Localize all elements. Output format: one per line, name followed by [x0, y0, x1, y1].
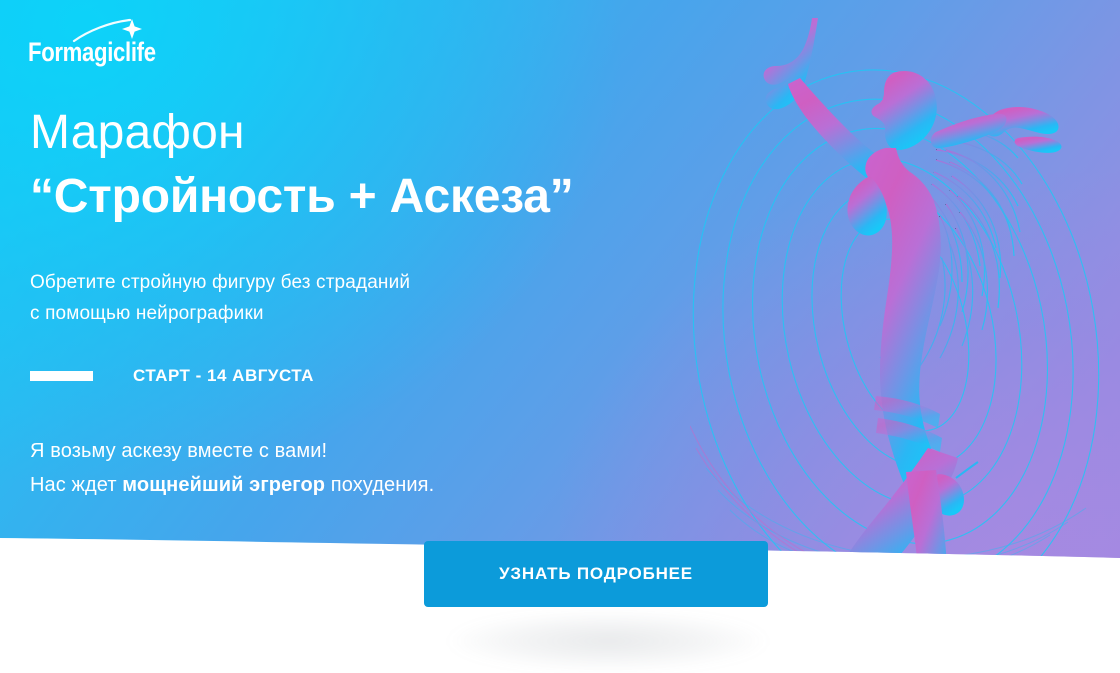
- promise-suffix: похудения.: [325, 474, 434, 496]
- start-date-label: СТАРТ - 14 АВГУСТА: [133, 366, 314, 386]
- subtitle-line-2: с помощью нейрографики: [30, 299, 410, 330]
- brand-logo-text: Formagiclife: [28, 39, 156, 66]
- subtitle-line-1: Обретите стройную фигуру без страданий: [30, 268, 410, 299]
- headline-line-2: “Стройность + Аскеза”: [30, 172, 750, 223]
- hero-headline: Марафон “Стройность + Аскеза”: [30, 108, 750, 223]
- start-date-row: СТАРТ - 14 АВГУСТА: [30, 366, 314, 386]
- learn-more-button[interactable]: УЗНАТЬ ПОДРОБНЕЕ: [424, 541, 768, 607]
- hero-subtitle: Обретите стройную фигуру без страданий с…: [30, 268, 410, 330]
- accent-bar: [30, 371, 93, 381]
- cta-shadow: [448, 612, 768, 670]
- headline-line-1: Марафон: [30, 108, 750, 159]
- promise-line-2: Нас ждет мощнейший эгрегор похудения.: [30, 468, 434, 502]
- promise-highlight: мощнейший эгрегор: [122, 474, 325, 496]
- promise-line-1: Я возьму аскезу вместе с вами!: [30, 434, 434, 468]
- landing-page: Formagiclife Марафон “Стройность + Аскез…: [0, 0, 1120, 673]
- hero-promise: Я возьму аскезу вместе с вами! Нас ждет …: [30, 434, 434, 503]
- promise-prefix: Нас ждет: [30, 474, 122, 496]
- brand-logo[interactable]: Formagiclife: [28, 17, 248, 73]
